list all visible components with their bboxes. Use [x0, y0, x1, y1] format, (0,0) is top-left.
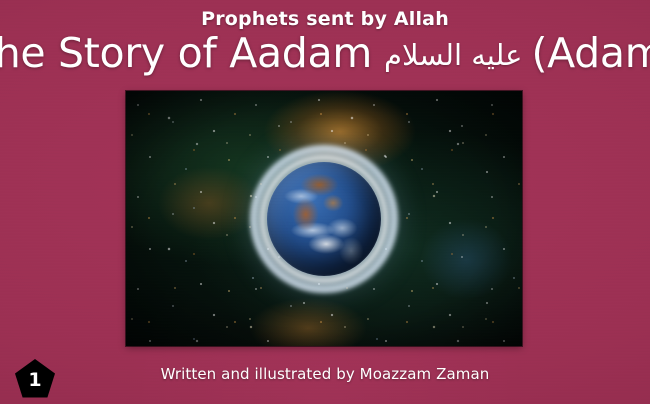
author-credit: Written and illustrated by Moazzam Zaman	[0, 365, 650, 383]
alayhi-as-salam-calligraphy-icon: عليه السلام	[384, 41, 522, 70]
earth-rim-highlight	[261, 156, 387, 282]
book-title-main: The Story of Aadam	[0, 29, 372, 77]
earth-globe	[250, 145, 398, 293]
page-number-badge: 1	[14, 358, 56, 400]
earth-in-space-illustration	[126, 91, 522, 346]
series-label: Prophets sent by Allah	[0, 8, 650, 30]
page-number-value: 1	[14, 359, 56, 401]
book-cover-page: Prophets sent by Allah The Story of Aada…	[0, 0, 650, 404]
book-title-transliteration: (Adam)	[531, 29, 650, 77]
book-title: The Story of Aadam عليه السلام (Adam)	[0, 29, 650, 77]
